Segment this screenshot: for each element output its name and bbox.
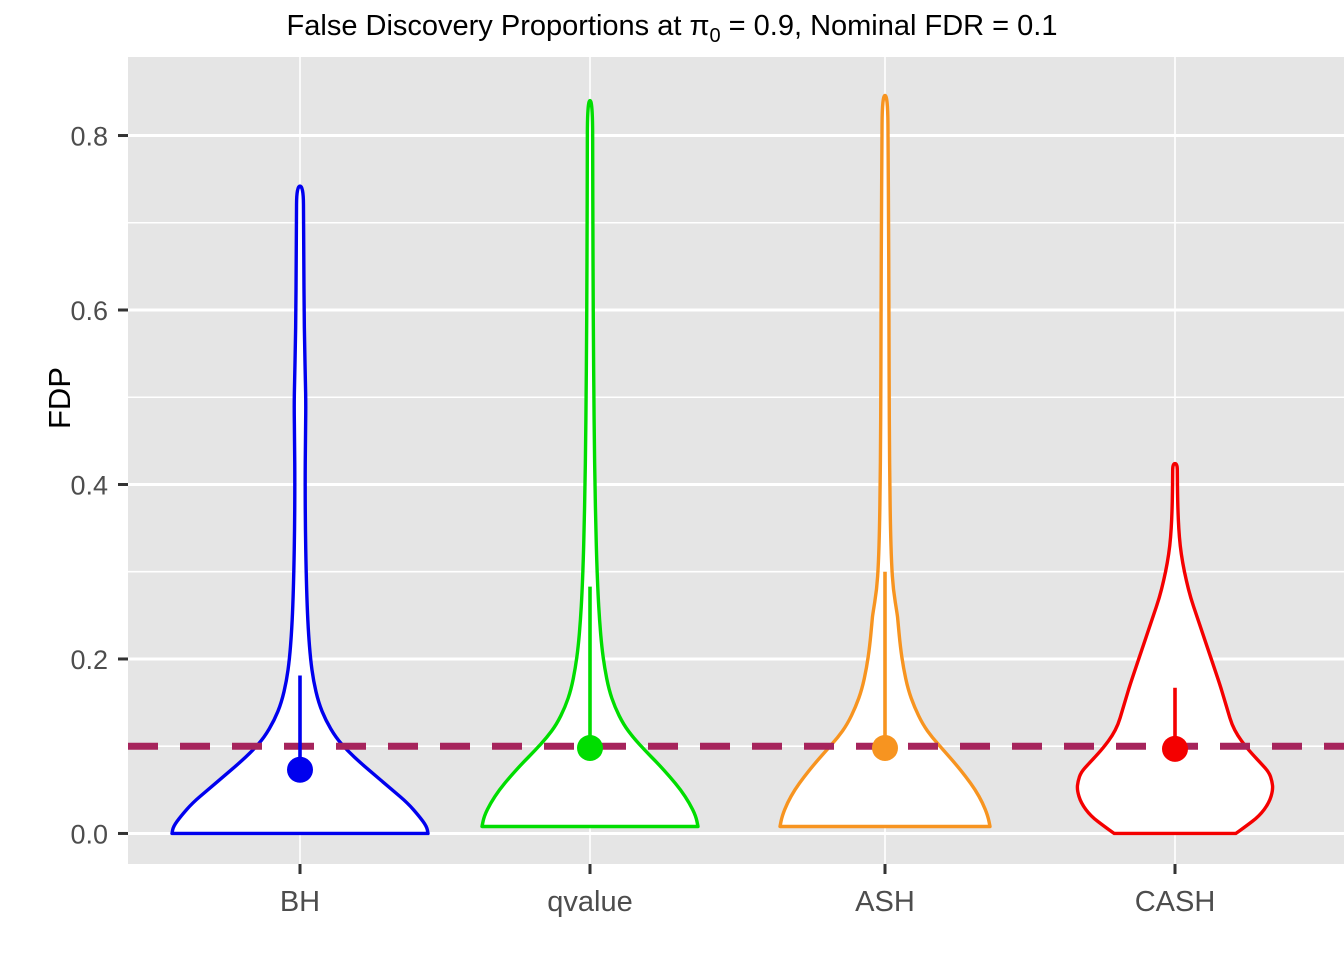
point-estimate-ash [872, 735, 898, 761]
y-tick-label: 0.2 [70, 645, 108, 675]
y-tick-label: 0.6 [70, 296, 108, 326]
y-axis: 0.00.20.40.60.8 [70, 122, 128, 850]
point-estimate-bh [287, 757, 313, 783]
y-tick-label: 0.0 [70, 819, 108, 849]
chart-figure: False Discovery Proportions at π0 = 0.9,… [0, 0, 1344, 960]
plot-area: 0.00.20.40.60.8 BHqvalueASHCASH [0, 0, 1344, 960]
x-tick-label-ash: ASH [855, 886, 915, 918]
x-tick-label-qvalue: qvalue [547, 886, 632, 918]
y-tick-label: 0.8 [70, 122, 108, 152]
y-tick-label: 0.4 [70, 470, 108, 500]
x-tick-label-bh: BH [280, 886, 320, 918]
point-estimate-cash [1162, 736, 1188, 762]
point-estimate-qvalue [577, 735, 603, 761]
x-tick-label-cash: CASH [1135, 886, 1216, 918]
x-axis: BHqvalueASHCASH [280, 864, 1215, 918]
